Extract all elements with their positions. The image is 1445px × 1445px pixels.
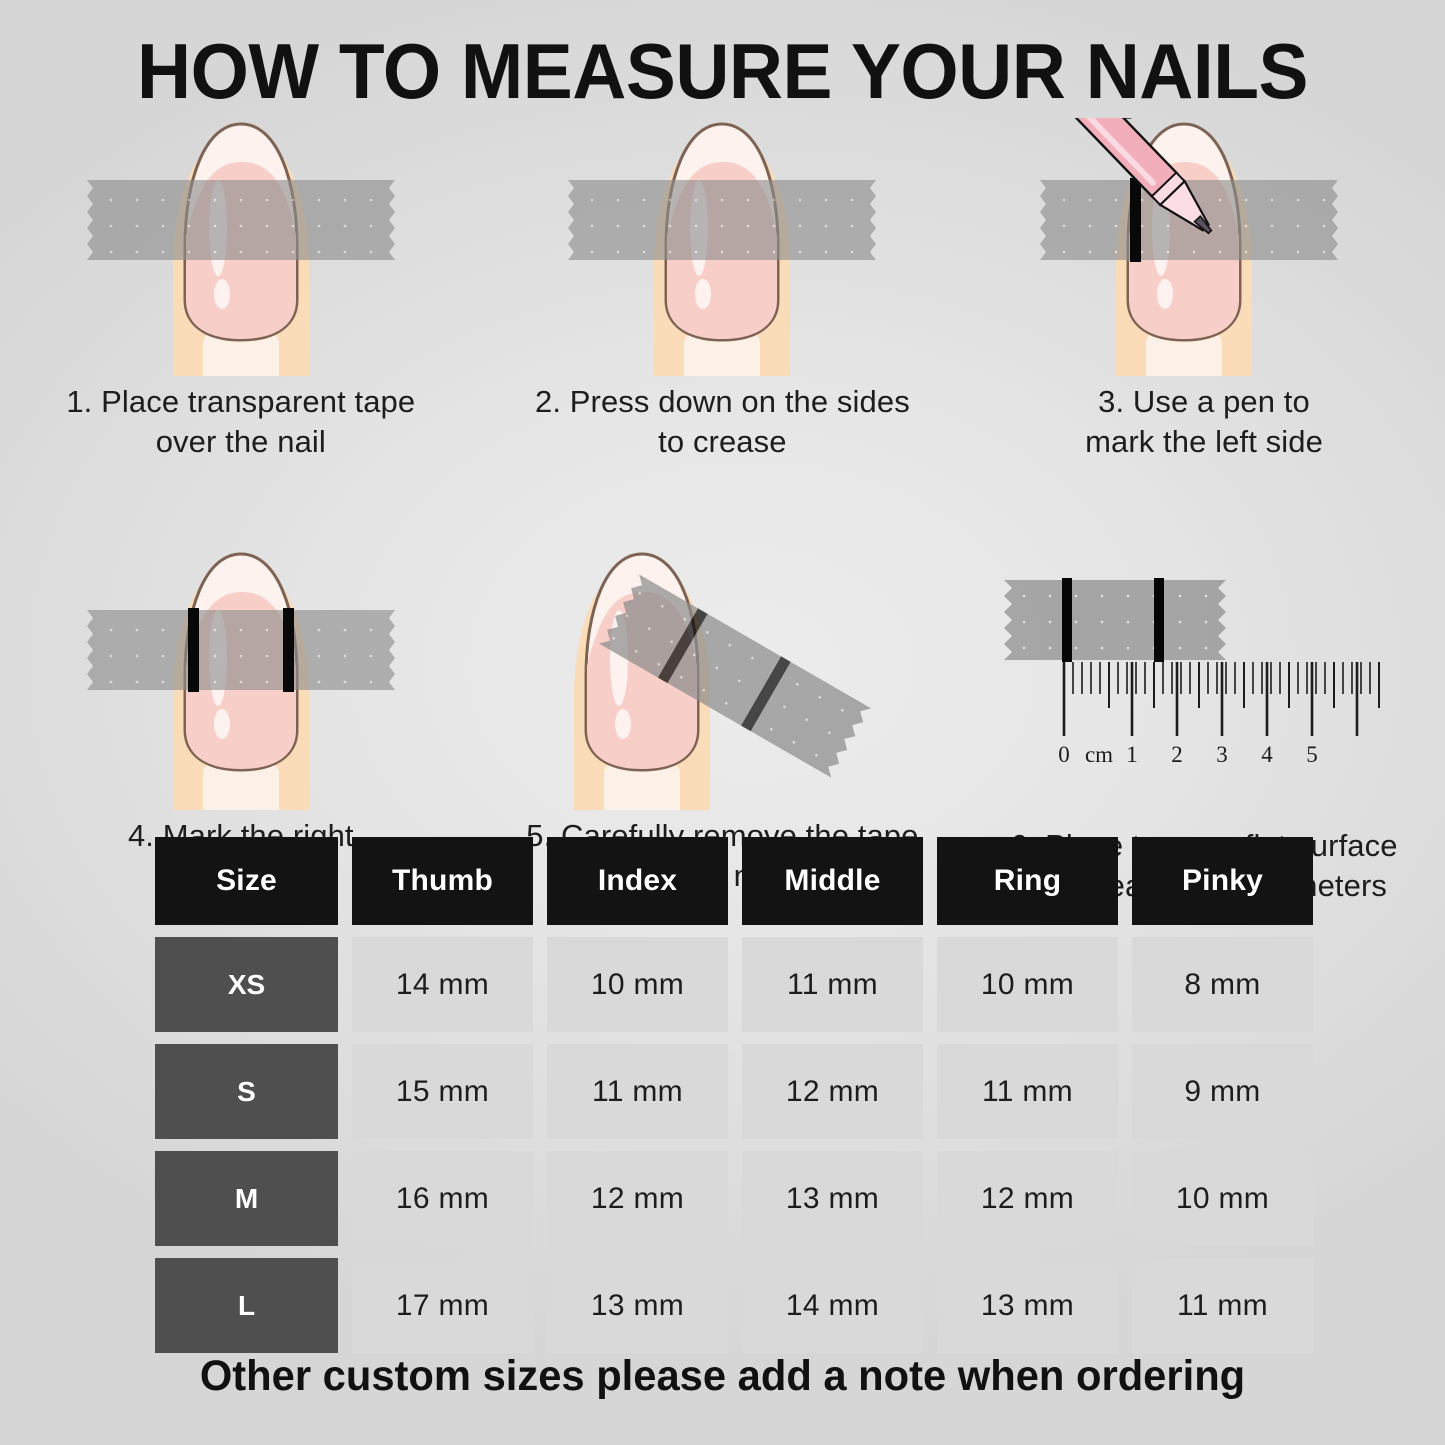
left-mark	[1062, 578, 1072, 662]
ruler-label-2: 2	[1171, 742, 1183, 767]
step-3-illustration	[963, 118, 1445, 376]
step-1-caption-line1: 1. Place transparent tape	[26, 382, 456, 422]
step-6-illustration: 0 cm 1 2 3 4 5	[963, 548, 1445, 810]
ruler	[1064, 662, 1379, 736]
step-3-caption-line1: 3. Use a pen to	[989, 382, 1419, 422]
tape-strip	[1004, 580, 1226, 660]
right-mark	[283, 608, 294, 692]
table-cell-pinky: 11 mm	[1132, 1258, 1313, 1353]
table-header-pinky: Pinky	[1132, 837, 1313, 925]
table-cell-pinky: 10 mm	[1132, 1151, 1313, 1246]
table-cell-thumb: 14 mm	[352, 937, 533, 1032]
table-cell-thumb: 17 mm	[352, 1258, 533, 1353]
table-cell-index: 10 mm	[547, 937, 728, 1032]
table-cell-thumb: 16 mm	[352, 1151, 533, 1246]
table-cell-thumb: 15 mm	[352, 1044, 533, 1139]
finger-tape-pen-left-mark-icon	[1034, 118, 1374, 376]
steps-section: 1. Place transparent tape over the nail	[0, 118, 1445, 906]
left-mark	[1130, 178, 1141, 262]
step-1-caption: 1. Place transparent tape over the nail	[0, 382, 482, 462]
step-3-caption-line2: mark the left side	[989, 422, 1419, 462]
footer-note: Other custom sizes please add a note whe…	[22, 1352, 1424, 1401]
step-2-caption-line1: 2. Press down on the sides	[508, 382, 938, 422]
table-cell-ring: 13 mm	[937, 1258, 1118, 1353]
table-header-row: Size Thumb Index Middle Ring Pinky	[155, 837, 1322, 925]
step-2-illustration	[482, 118, 964, 376]
table-size-label: M	[155, 1151, 338, 1246]
step-1-illustration	[0, 118, 482, 376]
table-cell-index: 11 mm	[547, 1044, 728, 1139]
table-header-thumb: Thumb	[352, 837, 533, 925]
table-size-label: XS	[155, 937, 338, 1032]
ruler-label-unit: cm	[1085, 742, 1113, 767]
table-row: XS 14 mm 10 mm 11 mm 10 mm 8 mm	[155, 937, 1322, 1032]
tape-on-ruler-icon: 0 cm 1 2 3 4 5	[994, 566, 1414, 828]
ruler-label-5: 5	[1306, 742, 1318, 767]
step-3-caption: 3. Use a pen to mark the left side	[963, 382, 1445, 462]
tape-strip	[87, 180, 395, 260]
table-cell-middle: 13 mm	[742, 1151, 923, 1246]
finger-tape-plain-icon	[81, 118, 401, 376]
right-mark	[1154, 578, 1164, 662]
finger-tape-both-marks-icon	[81, 548, 401, 810]
table-header-ring: Ring	[937, 837, 1118, 925]
step-2: 2. Press down on the sides to crease	[482, 118, 964, 462]
step-2-caption-line2: to crease	[508, 422, 938, 462]
table-cell-index: 13 mm	[547, 1258, 728, 1353]
table-cell-middle: 14 mm	[742, 1258, 923, 1353]
infographic-page: HOW TO MEASURE YOUR NAILS	[0, 0, 1445, 1445]
finger-tape-peeled-off-icon	[542, 548, 902, 810]
step-4-illustration	[0, 548, 482, 810]
table-cell-middle: 12 mm	[742, 1044, 923, 1139]
step-3: 3. Use a pen to mark the left side	[963, 118, 1445, 462]
ruler-labels: 0 cm 1 2 3 4 5	[1058, 742, 1318, 767]
tape-strip	[568, 180, 876, 260]
table-cell-ring: 10 mm	[937, 937, 1118, 1032]
page-title: HOW TO MEASURE YOUR NAILS	[29, 26, 1416, 117]
table-row: M 16 mm 12 mm 13 mm 12 mm 10 mm	[155, 1151, 1322, 1246]
finger-tape-creased-icon	[562, 118, 882, 376]
table-header-index: Index	[547, 837, 728, 925]
table-size-label: L	[155, 1258, 338, 1353]
steps-row-1: 1. Place transparent tape over the nail	[0, 118, 1445, 462]
step-1-caption-line2: over the nail	[26, 422, 456, 462]
table-row: S 15 mm 11 mm 12 mm 11 mm 9 mm	[155, 1044, 1322, 1139]
step-1: 1. Place transparent tape over the nail	[0, 118, 482, 462]
table-row: L 17 mm 13 mm 14 mm 13 mm 11 mm	[155, 1258, 1322, 1353]
ruler-label-0: 0	[1058, 742, 1070, 767]
ruler-label-1: 1	[1126, 742, 1138, 767]
size-table: Size Thumb Index Middle Ring Pinky XS 14…	[155, 837, 1322, 1353]
step-2-caption: 2. Press down on the sides to crease	[482, 382, 964, 462]
table-cell-pinky: 8 mm	[1132, 937, 1313, 1032]
table-header-middle: Middle	[742, 837, 923, 925]
ruler-label-4: 4	[1261, 742, 1273, 767]
table-cell-index: 12 mm	[547, 1151, 728, 1246]
ruler-label-3: 3	[1216, 742, 1228, 767]
table-size-label: S	[155, 1044, 338, 1139]
tape-strip	[87, 610, 395, 690]
table-header-size: Size	[155, 837, 338, 925]
table-cell-ring: 11 mm	[937, 1044, 1118, 1139]
table-cell-pinky: 9 mm	[1132, 1044, 1313, 1139]
left-mark	[188, 608, 199, 692]
table-cell-ring: 12 mm	[937, 1151, 1118, 1246]
table-cell-middle: 11 mm	[742, 937, 923, 1032]
step-5-illustration	[482, 548, 964, 810]
